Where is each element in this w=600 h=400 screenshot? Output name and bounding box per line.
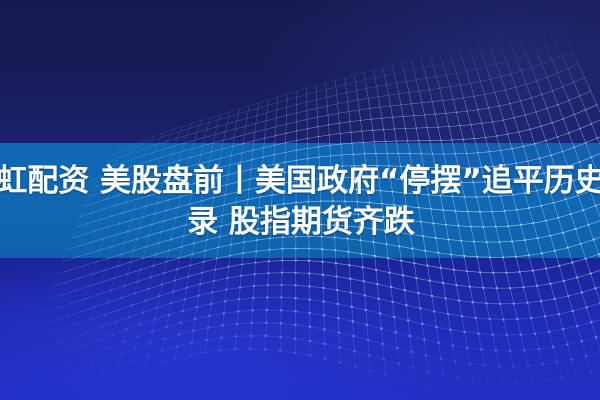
headline-block: 彩虹配资 美股盘前丨美国政府“停摆”追平历史纪 录 股指期货齐跌 <box>0 143 600 260</box>
headline-line-1: 彩虹配资 美股盘前丨美国政府“停摆”追平历史纪 <box>0 161 600 202</box>
headline-line-2: 录 股指期货齐跌 <box>185 202 415 243</box>
news-banner-image: 彩虹配资 美股盘前丨美国政府“停摆”追平历史纪 录 股指期货齐跌 <box>0 0 600 400</box>
